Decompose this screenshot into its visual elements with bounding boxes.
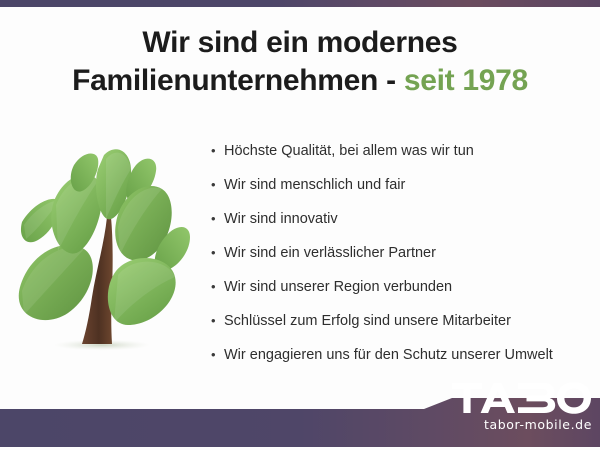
bullet-icon: • [211, 209, 224, 229]
bullet-icon: • [211, 345, 224, 365]
list-item-label: Wir sind ein verlässlicher Partner [224, 243, 436, 263]
list-item-label: Wir sind menschlich und fair [224, 175, 405, 195]
page-title: Wir sind ein modernes Familienunternehme… [0, 24, 600, 100]
list-item: • Wir sind innovativ [211, 209, 596, 243]
page-title-line-2-prefix: Familienunternehmen - [72, 64, 404, 97]
list-item: • Wir sind unserer Region verbunden [211, 277, 596, 311]
list-item: • Höchste Qualität, bei allem was wir tu… [211, 141, 596, 175]
page-title-line-2: Familienunternehmen - seit 1978 [0, 62, 600, 100]
bullet-icon: • [211, 175, 224, 195]
bullet-icon: • [211, 141, 224, 161]
list-item: • Wir engagieren uns für den Schutz unse… [211, 345, 596, 379]
list-item: • Schlüssel zum Erfolg sind unsere Mitar… [211, 311, 596, 345]
list-item-label: Schlüssel zum Erfolg sind unsere Mitarbe… [224, 311, 511, 331]
list-item: • Wir sind menschlich und fair [211, 175, 596, 209]
value-list: • Höchste Qualität, bei allem was wir tu… [211, 141, 596, 379]
page-title-line-1: Wir sind ein modernes [0, 24, 600, 62]
tree-illustration [12, 145, 194, 360]
slide-canvas: Wir sind ein modernes Familienunternehme… [0, 0, 600, 450]
top-accent-bar [0, 0, 600, 7]
list-item-label: Wir engagieren uns für den Schutz unsere… [224, 345, 553, 365]
tree-leaf [19, 245, 93, 320]
list-item-label: Höchste Qualität, bei allem was wir tun [224, 141, 474, 161]
bullet-icon: • [211, 243, 224, 263]
tree-leaf [108, 258, 176, 325]
list-item-label: Wir sind unserer Region verbunden [224, 277, 452, 297]
list-item-label: Wir sind innovativ [224, 209, 338, 229]
bullet-icon: • [211, 311, 224, 331]
page-title-accent-year: seit 1978 [404, 64, 528, 97]
list-item: • Wir sind ein verlässlicher Partner [211, 243, 596, 277]
bullet-icon: • [211, 277, 224, 297]
footer-bar [0, 398, 600, 448]
